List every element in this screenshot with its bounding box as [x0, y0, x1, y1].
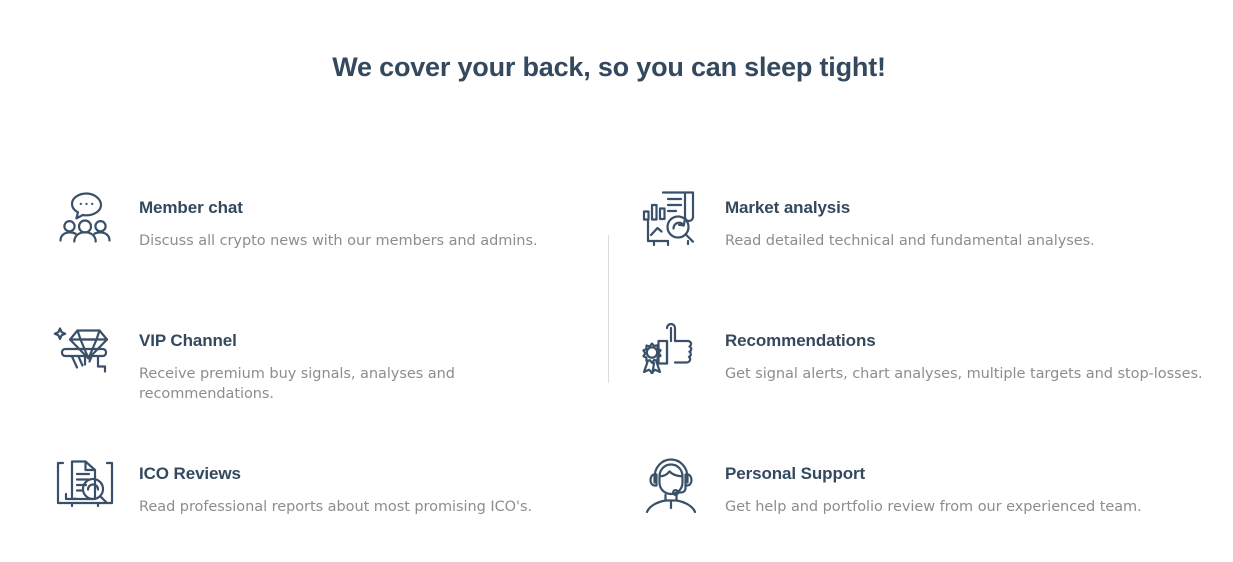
feature-ico-reviews[interactable]: ICO Reviews Read professional reports ab… [0, 450, 588, 517]
market-analysis-icon [638, 184, 704, 250]
feature-description: Read professional reports about most pro… [139, 497, 532, 517]
feature-body: ICO Reviews Read professional reports ab… [118, 450, 532, 517]
feature-body: Market analysis Read detailed technical … [704, 184, 1095, 251]
vip-channel-icon [52, 317, 118, 383]
feature-description: Read detailed technical and fundamental … [725, 231, 1095, 251]
feature-title: Recommendations [725, 330, 1203, 352]
feature-title: Member chat [139, 197, 538, 219]
feature-title: VIP Channel [139, 330, 588, 352]
ico-reviews-icon [52, 450, 118, 516]
personal-support-icon [638, 450, 704, 516]
feature-title: Market analysis [725, 197, 1095, 219]
feature-body: Member chat Discuss all crypto news with… [118, 184, 538, 251]
section-heading: We cover your back, so you can sleep tig… [0, 48, 1218, 86]
feature-description: Discuss all crypto news with our members… [139, 231, 538, 251]
features-grid: Member chat Discuss all crypto news with… [0, 184, 1233, 517]
feature-description: Get signal alerts, chart analyses, multi… [725, 364, 1203, 384]
feature-title: ICO Reviews [139, 463, 532, 485]
feature-body: VIP Channel Receive premium buy signals,… [118, 317, 588, 404]
recommendations-icon [638, 317, 704, 383]
feature-recommendations[interactable]: Recommendations Get signal alerts, chart… [638, 317, 1233, 450]
member-chat-icon [52, 184, 118, 250]
feature-title: Personal Support [725, 463, 1142, 485]
feature-body: Recommendations Get signal alerts, chart… [704, 317, 1203, 384]
feature-market-analysis[interactable]: Market analysis Read detailed technical … [638, 184, 1233, 317]
feature-description: Receive premium buy signals, analyses an… [139, 364, 588, 404]
feature-description: Get help and portfolio review from our e… [725, 497, 1142, 517]
feature-vip-channel[interactable]: VIP Channel Receive premium buy signals,… [0, 317, 588, 450]
feature-personal-support[interactable]: Personal Support Get help and portfolio … [638, 450, 1233, 517]
feature-body: Personal Support Get help and portfolio … [704, 450, 1142, 517]
features-section: We cover your back, so you can sleep tig… [0, 0, 1233, 562]
feature-member-chat[interactable]: Member chat Discuss all crypto news with… [0, 184, 588, 317]
